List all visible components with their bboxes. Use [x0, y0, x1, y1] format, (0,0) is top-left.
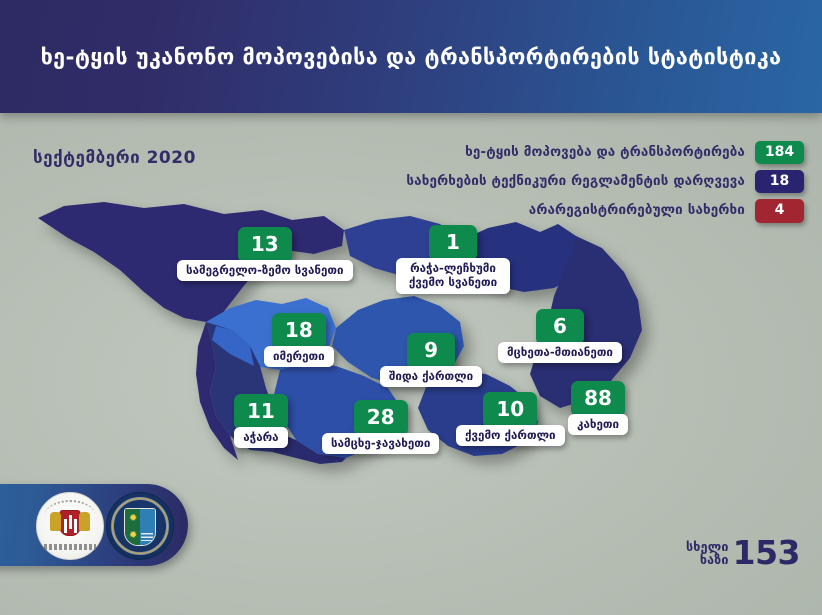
government-coat-of-arms-icon: [36, 492, 104, 560]
marker-count-badge: 13: [238, 227, 292, 263]
legend-item-count-badge: 18: [755, 170, 804, 193]
shield-icon: ✹ ✹: [124, 508, 156, 546]
marker-region-name: რაჭა-ლეჩხუმი ქვემო სვანეთი: [396, 258, 510, 294]
marker-region-name: მცხეთა-მთიანეთი: [498, 342, 622, 363]
hotline-label: სხელი ხაზი: [686, 540, 729, 567]
marker-count-badge: 28: [354, 400, 408, 436]
legend-item-count-badge: 4: [755, 199, 804, 222]
map-marker-shida-kartli[interactable]: 9 შიდა ქართლი: [380, 333, 482, 387]
legend-item-label: სახერხების ტექნიკური რეგლამენტის დარღვევ…: [406, 174, 745, 189]
lion-icon: [50, 512, 61, 531]
marker-region-name: იმერეთი: [264, 346, 334, 367]
legend-item-sawmill-regulation: სახერხების ტექნიკური რეგლამენტის დარღვევ…: [406, 170, 804, 193]
hotline: სხელი ხაზი 153: [686, 539, 800, 567]
star-icon: ✹: [129, 514, 137, 524]
environmental-supervision-emblem-icon: ✹ ✹: [106, 492, 174, 560]
map-marker-adjara[interactable]: 11 აჭარა: [234, 394, 288, 448]
marker-count-badge: 18: [272, 313, 326, 349]
header-banner: ხე-ტყის უკანონო მოპოვებისა და ტრანსპორტი…: [0, 0, 822, 113]
marker-count-badge: 88: [571, 381, 625, 417]
map-marker-mtskheta-mtianeti[interactable]: 6 მცხეთა-მთიანეთი: [498, 309, 622, 363]
map-marker-kakheti[interactable]: 88 კახეთი: [568, 381, 628, 435]
marker-region-name: სამცხე-ჯავახეთი: [322, 433, 439, 454]
map-marker-samegrelo-zemo-svaneti[interactable]: 13 სამეგრელო-ზემო სვანეთი: [177, 227, 353, 281]
logo-panel: ✹ ✹: [0, 484, 188, 566]
shield-icon: [60, 510, 81, 536]
infographic-poster: ხე-ტყის უკანონო მოპოვებისა და ტრანსპორტი…: [0, 0, 822, 615]
shield-quarter: [140, 509, 155, 527]
star-icon: ✹: [129, 531, 137, 541]
hotline-number: 153: [733, 539, 800, 567]
legend-item-count-badge: 184: [755, 141, 804, 164]
marker-count-badge: 1: [429, 225, 477, 261]
marker-region-name: ქვემო ქართლი: [456, 425, 565, 446]
date-label: სექტემბერი 2020: [33, 148, 196, 168]
map-marker-imereti[interactable]: 18 იმერეთი: [264, 313, 334, 367]
hotline-label-line2: ხაზი: [700, 553, 729, 566]
georgia-region-map: 13 სამეგრელო-ზემო სვანეთი 1 რაჭა-ლეჩხუმი…: [24, 196, 684, 486]
emblem-caption-text: [44, 544, 96, 550]
legend-item-label: ხე-ტყის მოპოვება და ტრანსპორტირება: [465, 145, 745, 160]
marker-region-name: სამეგრელო-ზემო სვანეთი: [177, 260, 353, 281]
marker-region-name: კახეთი: [568, 414, 628, 435]
marker-count-badge: 11: [234, 394, 288, 430]
map-marker-samtskhe-javakheti[interactable]: 28 სამცხე-ჯავახეთი: [322, 400, 439, 454]
marker-region-name: შიდა ქართლი: [380, 366, 482, 387]
marker-count-badge: 6: [536, 309, 584, 345]
wave-icon: [141, 533, 153, 541]
lion-icon: [79, 512, 90, 531]
legend-item-violations: ხე-ტყის მოპოვება და ტრანსპორტირება 184: [465, 141, 804, 164]
marker-region-name: აჭარა: [234, 427, 287, 448]
map-marker-kvemo-kartli[interactable]: 10 ქვემო ქართლი: [456, 392, 565, 446]
map-marker-racha-lechkhumi-kvemo-svaneti[interactable]: 1 რაჭა-ლეჩხუმი ქვემო სვანეთი: [396, 225, 510, 294]
marker-count-badge: 10: [483, 392, 537, 428]
hotline-label-line1: სხელი: [686, 540, 729, 553]
marker-count-badge: 9: [407, 333, 455, 369]
page-title: ხე-ტყის უკანონო მოპოვებისა და ტრანსპორტი…: [0, 45, 822, 70]
